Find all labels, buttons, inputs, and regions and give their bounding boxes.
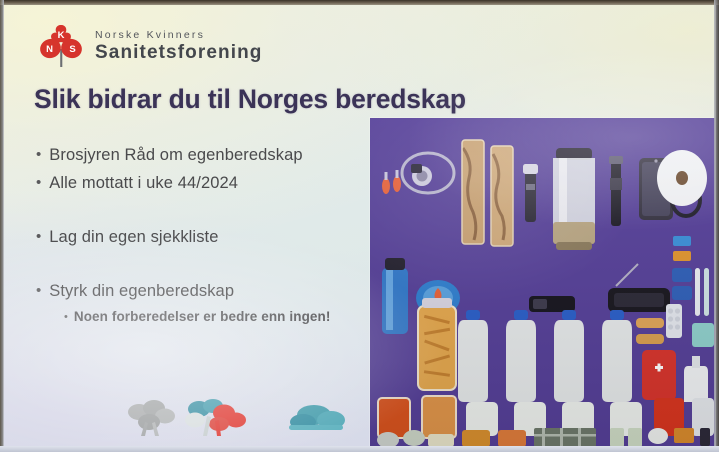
- bullet-glyph: •: [64, 308, 68, 326]
- canned-food-icon: [422, 396, 456, 438]
- clover-teal-red-icon: [185, 399, 246, 436]
- bullet-text-3: Lag din egen sjekkliste: [49, 226, 218, 248]
- bullet-item-2: • Alle mottatt i uke 44/2024: [36, 172, 356, 194]
- bullet-glyph: •: [36, 172, 41, 194]
- bullet-item-4: • Styrk din egenberedskap: [36, 280, 356, 302]
- slide-surface: K N S Norske Kvinners Sanitetsforening S…: [3, 4, 716, 448]
- bullet-glyph: •: [36, 280, 41, 302]
- bullet-text-1: Brosjyren Råd om egenberedskap: [49, 144, 302, 166]
- water-bottle-icon: [602, 310, 632, 402]
- svg-text:N: N: [46, 44, 53, 55]
- battery-icon: [672, 236, 692, 300]
- lantern-icon: [553, 148, 595, 250]
- wet-wipes-icon: [692, 323, 714, 347]
- tablet-icon: [648, 428, 668, 444]
- clover-decoration: [121, 392, 371, 438]
- candle-icon: [610, 428, 624, 447]
- small-flashlight-icon: [523, 164, 538, 222]
- screen-bezel-right: [714, 0, 719, 452]
- radio-icon: [529, 296, 575, 312]
- bullet-list: • Brosjyren Råd om egenberedskap • Alle …: [36, 144, 356, 326]
- bullet-glyph: •: [36, 226, 41, 248]
- bullet-spacer: [36, 254, 356, 280]
- candle-icon: [628, 428, 642, 447]
- pasta-jar-icon: [418, 298, 456, 390]
- kit-items-illustration: [370, 118, 715, 447]
- nks-logo: K N S Norske Kvinners Sanitetsforening: [36, 21, 263, 71]
- water-bottle-icon: [506, 310, 536, 402]
- projected-slide-photo: K N S Norske Kvinners Sanitetsforening S…: [0, 0, 719, 452]
- clover-grey-icon: [128, 400, 175, 436]
- water-bottle-icon: [458, 310, 488, 402]
- emergency-preparedness-kit-photo: [370, 118, 715, 447]
- pasta-jar-icon: [462, 430, 490, 447]
- slide-title: Slik bidrar du til Norges beredskap: [34, 84, 466, 115]
- crispbread-icon: [491, 146, 513, 246]
- bullet-text-2: Alle mottatt i uke 44/2024: [49, 172, 238, 194]
- bullet-spacer: [36, 200, 356, 226]
- logo-wordmark: Norske Kvinners Sanitetsforening: [95, 30, 263, 63]
- bullet-item-1: • Brosjyren Råd om egenberedskap: [36, 144, 356, 166]
- bullet-item-3: • Lag din egen sjekkliste: [36, 226, 356, 248]
- pasta-jar-icon: [498, 430, 526, 447]
- bullet-item-5-sub: • Noen forberedelser er bedre enn ingen!: [64, 308, 356, 326]
- scissors-icon: [700, 428, 710, 446]
- water-bottle-icon: [554, 310, 584, 402]
- svg-text:K: K: [58, 30, 65, 41]
- bullet-text-4: Styrk din egenberedskap: [49, 280, 234, 302]
- screen-bezel-left: [0, 0, 4, 452]
- canned-food-icon: [378, 398, 410, 438]
- water-blob-teal-icon: [289, 405, 345, 430]
- tealight-icon: [403, 430, 425, 446]
- bullet-glyph: •: [36, 144, 41, 166]
- plaid-blanket-icon: [534, 428, 596, 447]
- svg-text:S: S: [69, 44, 75, 55]
- logo-line-2: Sanitetsforening: [95, 43, 263, 62]
- pills-blister-icon: [666, 304, 682, 338]
- blue-water-bottle-icon: [382, 258, 408, 334]
- matchbox-icon: [674, 428, 694, 443]
- bullet-text-5: Noen forberedelser er bedre enn ingen!: [74, 308, 331, 325]
- toilet-paper-roll-icon: [657, 150, 707, 206]
- screen-bezel-top: [0, 0, 719, 5]
- crispbread-icon: [462, 140, 484, 244]
- logo-line-1: Norske Kvinners: [95, 30, 263, 41]
- first-aid-kit-icon: [642, 350, 676, 400]
- tactical-flashlight-icon: [609, 156, 623, 226]
- nks-clover-logo-icon: K N S: [36, 21, 86, 71]
- screen-bezel-bottom: [0, 446, 719, 452]
